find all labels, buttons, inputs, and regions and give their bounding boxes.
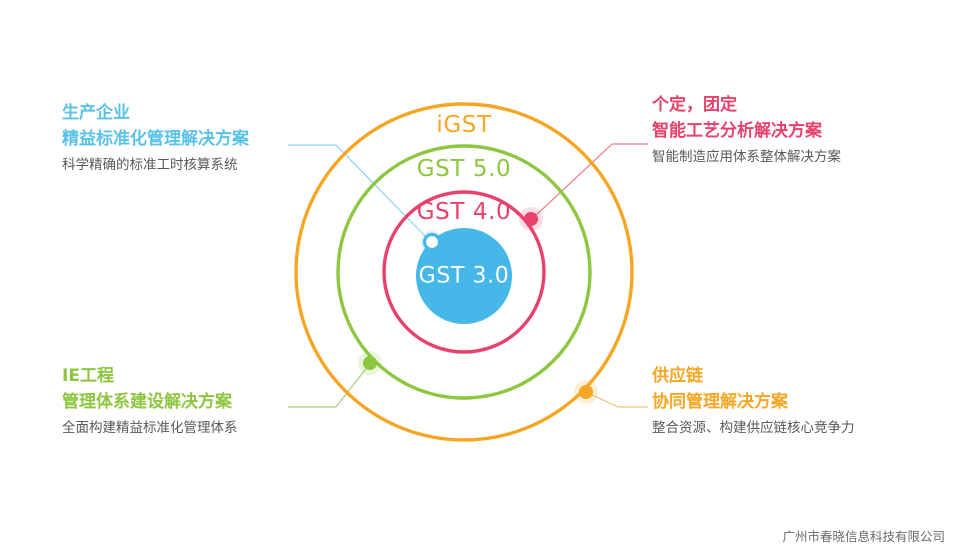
- ring-label-gst50: GST 5.0: [417, 156, 512, 182]
- infographic-canvas: iGST GST 5.0 GST 4.0 GST 3.0 生产企业 精益标准化管…: [0, 0, 963, 555]
- ring-label-igst: iGST: [436, 112, 491, 138]
- callout-bottom-left-title: 管理体系建设解决方案: [62, 389, 238, 416]
- callout-bottom-right-title: 协同管理解决方案: [652, 389, 855, 416]
- callout-bottom-left-eyebrow: IE工程: [62, 363, 238, 389]
- core-label-gst30: GST 3.0: [419, 264, 510, 289]
- callout-bottom-right-eyebrow: 供应链: [652, 363, 855, 389]
- callout-top-right-eyebrow: 个定，团定: [652, 92, 841, 118]
- callout-top-right-desc: 智能制造应用体系整体解决方案: [652, 146, 841, 170]
- ring-label-gst40: GST 4.0: [417, 199, 512, 225]
- marker-red: [524, 212, 538, 226]
- callout-bottom-left: IE工程 管理体系建设解决方案 全面构建精益标准化管理体系: [62, 363, 238, 440]
- footer-company-name: 广州市春晓信息科技有限公司: [782, 526, 945, 545]
- callout-top-left-desc: 科学精确的标准工时核算系统: [62, 154, 249, 178]
- callout-bottom-right: 供应链 协同管理解决方案 整合资源、构建供应链核心竞争力: [652, 363, 855, 440]
- callout-top-left: 生产企业 精益标准化管理解决方案 科学精确的标准工时核算系统: [62, 100, 249, 177]
- callout-bottom-right-desc: 整合资源、构建供应链核心竞争力: [652, 417, 855, 441]
- marker-blue: [425, 235, 440, 250]
- callout-top-right: 个定，团定 智能工艺分析解决方案 智能制造应用体系整体解决方案: [652, 92, 841, 169]
- callout-top-left-eyebrow: 生产企业: [62, 100, 249, 126]
- marker-orange: [579, 385, 593, 399]
- marker-green: [363, 356, 377, 370]
- callout-top-right-title: 智能工艺分析解决方案: [652, 118, 841, 145]
- callout-top-left-title: 精益标准化管理解决方案: [62, 126, 249, 153]
- callout-bottom-left-desc: 全面构建精益标准化管理体系: [62, 417, 238, 441]
